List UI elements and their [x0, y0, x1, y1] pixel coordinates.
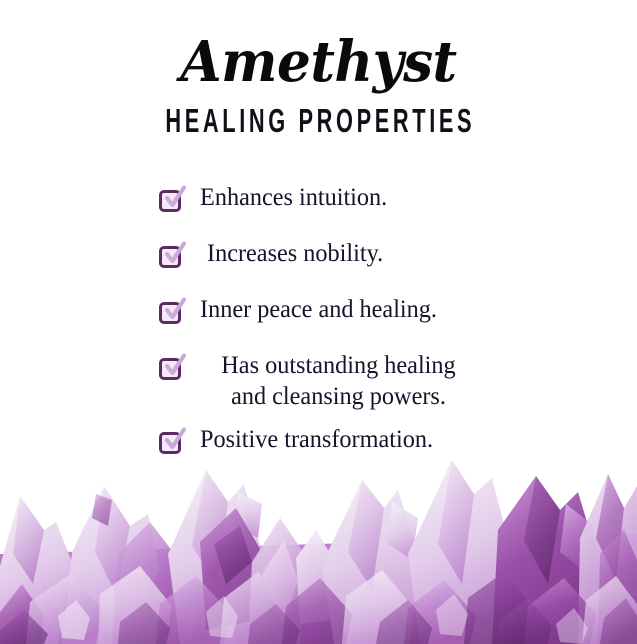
list-item-label: Enhances intuition. [200, 182, 387, 213]
list-item: Has outstanding healing and cleansing po… [0, 350, 637, 424]
checkmark-icon [164, 186, 186, 210]
checkbox-checked-icon [159, 246, 181, 268]
checkmark-icon [164, 354, 186, 378]
checkmark-icon [164, 298, 186, 322]
list-item: Enhances intuition. [0, 182, 637, 238]
amethyst-healing-properties-poster: Amethyst HEALING PROPERTIES Enhances int… [0, 0, 637, 644]
amethyst-crystal-cluster-image [0, 434, 637, 644]
checkbox-checked-icon [159, 190, 181, 212]
checkbox-checked-icon [159, 358, 181, 380]
page-title: Amethyst [16, 34, 621, 90]
list-item-label: Inner peace and healing. [200, 294, 437, 325]
list-item: Inner peace and healing. [0, 294, 637, 350]
list-item-label: Increases nobility. [207, 238, 383, 269]
list-item: Increases nobility. [0, 238, 637, 294]
list-item-label: Has outstanding healing and cleansing po… [193, 350, 484, 412]
page-subtitle: HEALING PROPERTIES [108, 104, 528, 137]
checkmark-icon [164, 242, 186, 266]
heading-block: Amethyst HEALING PROPERTIES [0, 0, 637, 137]
checkbox-checked-icon [159, 302, 181, 324]
